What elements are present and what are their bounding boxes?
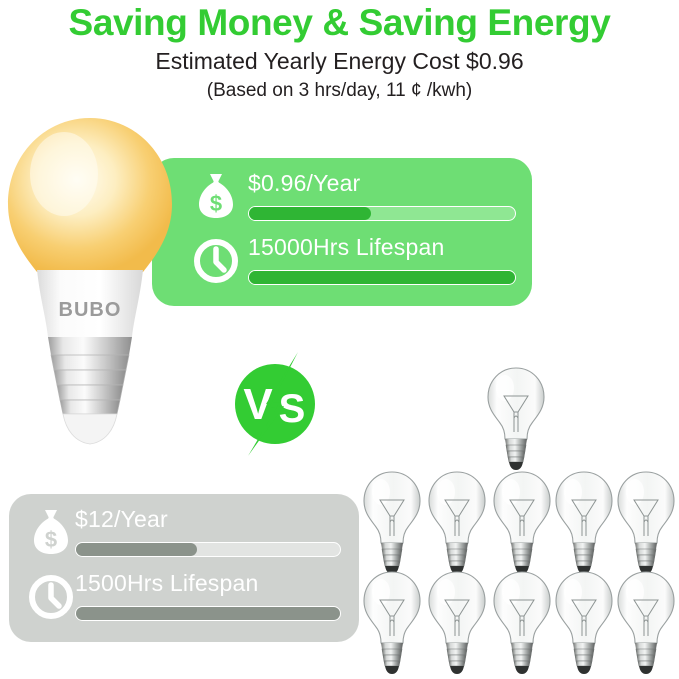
incandescent-bulb bbox=[614, 570, 678, 676]
incandescent-bulb bbox=[360, 470, 424, 576]
led-stats-panel: $ $0.96/Year 15000Hrs Lifespan bbox=[152, 158, 532, 306]
incandescent-bulb bbox=[490, 470, 554, 576]
led-lifespan-label: 15000Hrs Lifespan bbox=[248, 234, 444, 261]
incandescent-bulb bbox=[360, 570, 424, 676]
incandescent-lifespan-label: 1500Hrs Lifespan bbox=[75, 570, 258, 597]
svg-text:S: S bbox=[279, 387, 306, 431]
incandescent-cost-row: $ $12/Year bbox=[9, 506, 359, 568]
svg-text:$: $ bbox=[210, 191, 222, 216]
incandescent-cost-label: $12/Year bbox=[75, 506, 168, 533]
clock-icon bbox=[194, 236, 238, 284]
svg-text:BUBO: BUBO bbox=[59, 299, 122, 321]
money-bag-icon: $ bbox=[194, 172, 238, 220]
led-bulb-illustration: BUBO bbox=[2, 112, 178, 457]
estimated-cost-subtitle: Estimated Yearly Energy Cost $0.96 bbox=[0, 48, 679, 75]
led-lifespan-progress-fill bbox=[249, 271, 515, 284]
incandescent-bulb bbox=[490, 570, 554, 676]
incandescent-bulb bbox=[425, 470, 489, 576]
incandescent-cost-progress-fill bbox=[76, 543, 197, 556]
page-title: Saving Money & Saving Energy bbox=[0, 2, 679, 44]
versus-badge: V S bbox=[222, 352, 328, 456]
incandescent-cost-progress-track bbox=[75, 542, 341, 557]
led-lifespan-row: 15000Hrs Lifespan bbox=[152, 234, 532, 296]
svg-text:$: $ bbox=[45, 527, 57, 552]
incandescent-lifespan-progress-track bbox=[75, 606, 341, 621]
incandescent-lifespan-row: 1500Hrs Lifespan bbox=[9, 570, 359, 632]
incandescent-lifespan-progress-fill bbox=[76, 607, 340, 620]
led-lifespan-progress-track bbox=[248, 270, 516, 285]
incandescent-bulb bbox=[484, 366, 548, 472]
led-cost-row: $ $0.96/Year bbox=[152, 170, 532, 232]
incandescent-bulb bbox=[614, 470, 678, 576]
led-cost-label: $0.96/Year bbox=[248, 170, 360, 197]
clock-icon bbox=[29, 572, 73, 620]
money-bag-icon: $ bbox=[29, 508, 73, 556]
energy-savings-infographic: Saving Money & Saving Energy Estimated Y… bbox=[0, 0, 679, 679]
cost-basis-note: (Based on 3 hrs/day, 11 ¢ /kwh) bbox=[0, 80, 679, 102]
led-cost-progress-fill bbox=[249, 207, 371, 220]
led-cost-progress-track bbox=[248, 206, 516, 221]
incandescent-bulb bbox=[425, 570, 489, 676]
incandescent-stats-panel: $ $12/Year 1500Hrs Lifespan bbox=[9, 494, 359, 642]
incandescent-bulb bbox=[552, 570, 616, 676]
incandescent-bulb bbox=[552, 470, 616, 576]
